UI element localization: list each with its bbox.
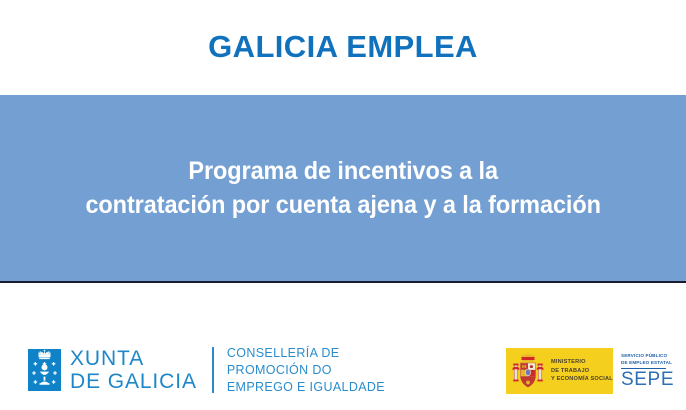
program-banner-text: Programa de incentivos a la contratación…	[85, 154, 600, 223]
conselleria-line-2: PROMOCIÓN DO	[227, 362, 385, 379]
ministerio-line-1: MINISTERIO	[551, 358, 613, 366]
conselleria-line-1: CONSELLERÍA DE	[227, 345, 385, 362]
sepe-logo: SERVICIO PÚBLICO DE EMPLEO ESTATAL SEPE	[613, 348, 686, 394]
xunta-wordmark-line-2: DE GALICIA	[70, 370, 197, 394]
conselleria-line-3: EMPREGO E IGUALDADE	[227, 379, 385, 396]
ministerio-text: MINISTERIO DE TRABAJO Y ECONOMÍA SOCIAL	[551, 358, 613, 383]
ministerio-logo: MINISTERIO DE TRABAJO Y ECONOMÍA SOCIAL	[506, 348, 613, 394]
galicia-coat-of-arms-icon	[28, 349, 61, 391]
sepe-subtitle-line-1: SERVICIO PÚBLICO	[621, 353, 686, 360]
government-logos: MINISTERIO DE TRABAJO Y ECONOMÍA SOCIAL …	[506, 348, 686, 394]
program-banner-line-2: contratación por cuenta ajena y a la for…	[85, 188, 600, 223]
conselleria-text: CONSELLERÍA DE PROMOCIÓN DO EMPREGO E IG…	[227, 345, 385, 396]
spain-coat-of-arms-icon	[511, 352, 545, 390]
ministerio-line-2: DE TRABAJO	[551, 367, 613, 375]
page-header: GALICIA EMPLEA	[0, 0, 686, 95]
xunta-de-galicia-logo: XUNTA DE GALICIA CONSELLERÍA DE PROMOCIÓ…	[28, 345, 385, 396]
xunta-wordmark: XUNTA DE GALICIA	[70, 347, 197, 394]
ministerio-line-3: Y ECONOMÍA SOCIAL	[551, 375, 613, 383]
page-footer: XUNTA DE GALICIA CONSELLERÍA DE PROMOCIÓ…	[0, 283, 686, 410]
sepe-subtitle: SERVICIO PÚBLICO DE EMPLEO ESTATAL	[621, 353, 686, 366]
xunta-wordmark-line-1: XUNTA	[70, 347, 197, 371]
sepe-wordmark: SEPE	[621, 370, 686, 389]
page-title: GALICIA EMPLEA	[208, 29, 478, 65]
logo-divider	[212, 347, 214, 393]
program-banner: Programa de incentivos a la contratación…	[0, 95, 686, 281]
program-banner-line-1: Programa de incentivos a la	[85, 154, 600, 189]
sepe-subtitle-line-2: DE EMPLEO ESTATAL	[621, 360, 686, 367]
